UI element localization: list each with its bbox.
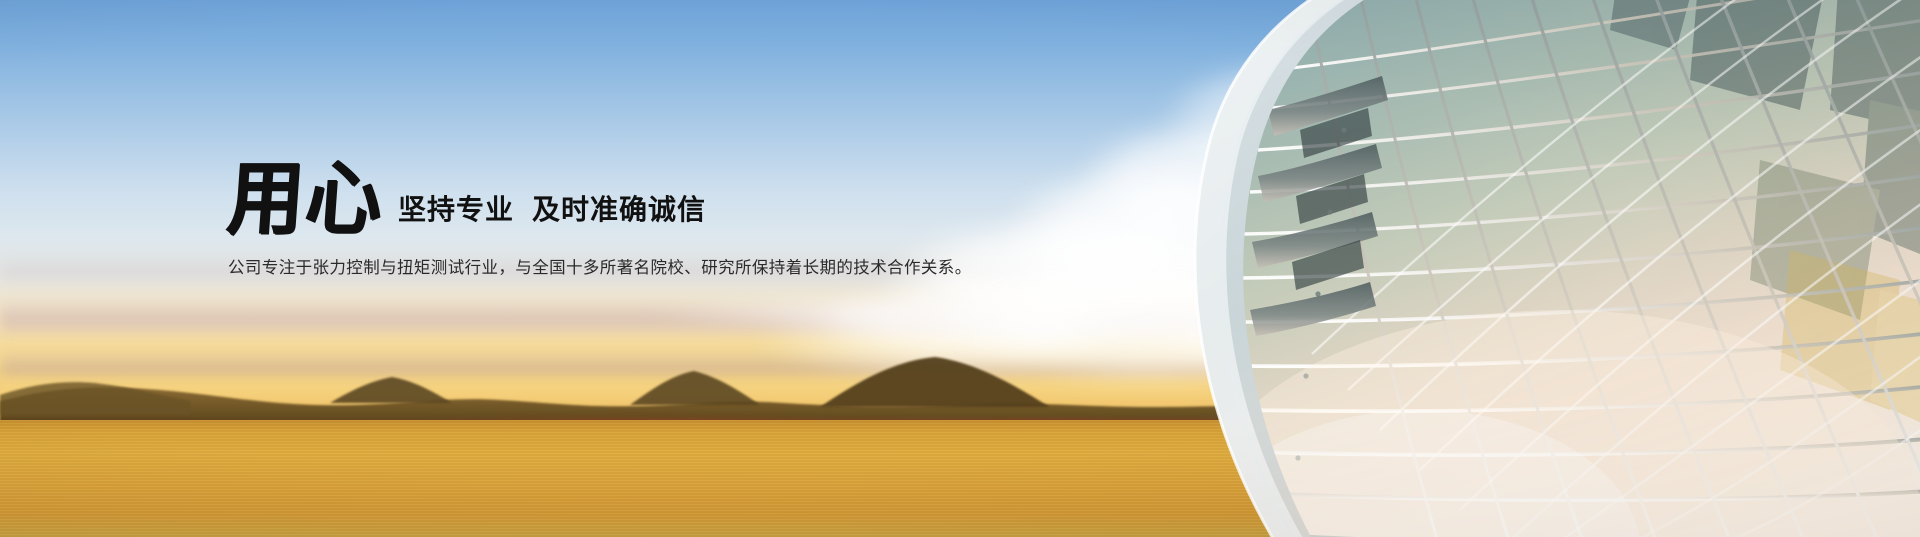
slogan-part-1: 坚持专业 [398,194,514,225]
banner-text-block: 用心 坚持专业及时准确诚信 公司专注于张力控制与扭矩测试行业，与全国十多所著名院… [228,150,968,278]
headline-row: 用心 坚持专业及时准确诚信 [228,150,968,234]
brush-headline: 用心 [225,162,386,236]
slogan-part-2: 及时准确诚信 [532,194,706,225]
hero-banner: 用心 坚持专业及时准确诚信 公司专注于张力控制与扭矩测试行业，与全国十多所著名院… [0,0,1920,537]
slogan: 坚持专业及时准确诚信 [398,188,706,234]
banner-description: 公司专注于张力控制与扭矩测试行业，与全国十多所著名院校、研究所保持着长期的技术合… [228,254,968,278]
glass-skyscraper [1000,0,1920,537]
